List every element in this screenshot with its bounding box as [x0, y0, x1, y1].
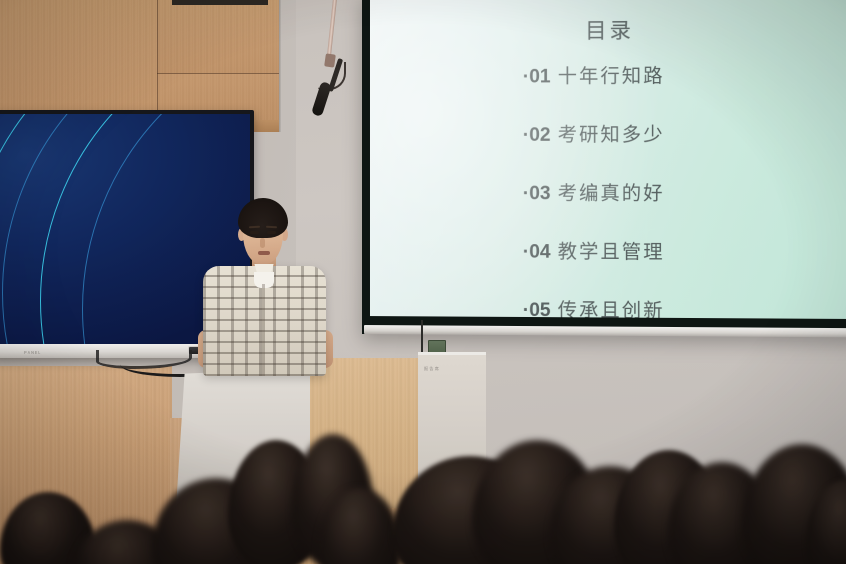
wood-wall-panel-b — [157, 0, 279, 73]
slide-item-text: 教学且管理 — [558, 237, 665, 265]
wall-seam-vertical — [157, 0, 158, 120]
slide-agenda-item: ·02 考研知多少 — [523, 119, 665, 146]
speaker-mouth — [258, 251, 270, 255]
projection-screen-surface: 目录 ·01 十年行知路 ·02 考研知多少 ·03 考编真的好 — [370, 0, 846, 319]
slide-item-number: ·02 — [523, 125, 551, 147]
slide-agenda-item: ·04 教学且管理 — [523, 236, 665, 264]
wall-seam-horizontal — [157, 73, 279, 74]
slide-agenda-item: ·03 考编真的好 — [523, 178, 665, 205]
speaker-shirt-placket — [262, 284, 265, 376]
slide-title: 目录 — [370, 13, 846, 46]
wall-corner-edge — [279, 0, 282, 132]
wood-wall-panel-a — [0, 0, 157, 120]
slide-item-text: 十年行知路 — [558, 61, 665, 89]
display-brand-label: ᴘᴀɴᴇʟ — [24, 350, 41, 356]
podium-front-label: 报告席 — [424, 366, 440, 372]
speaker-nose — [260, 238, 265, 248]
slide-item-text: 传承且创新 — [558, 295, 665, 319]
speaker-eye-left — [250, 231, 259, 234]
projection-screen: 目录 ·01 十年行知路 ·02 考研知多少 ·03 考编真的好 — [362, 0, 846, 337]
slide-item-text: 考研知多少 — [558, 119, 665, 146]
slide-item-text: 考编真的好 — [558, 178, 665, 205]
slide-item-number: ·01 — [523, 66, 551, 88]
slide-agenda-list: ·01 十年行知路 ·02 考研知多少 ·03 考编真的好 ·04 教学且管理 — [523, 61, 665, 319]
slide-agenda-item: ·05 传承且创新 — [523, 295, 665, 319]
presentation-slide: 目录 ·01 十年行知路 ·02 考研知多少 ·03 考编真的好 — [370, 0, 846, 319]
slide-item-number: ·04 — [523, 241, 551, 263]
slide-agenda-item: ·01 十年行知路 — [523, 61, 665, 89]
lecture-hall-photo: ᴘᴀɴᴇʟ 目录 ·01 十年行知路 ·02 考研知多少 — [0, 0, 846, 564]
speaker-eye-right — [267, 231, 276, 234]
slide-item-number: ·03 — [523, 183, 551, 205]
slide-item-number: ·05 — [523, 300, 551, 319]
wall-plaque — [172, 0, 268, 5]
